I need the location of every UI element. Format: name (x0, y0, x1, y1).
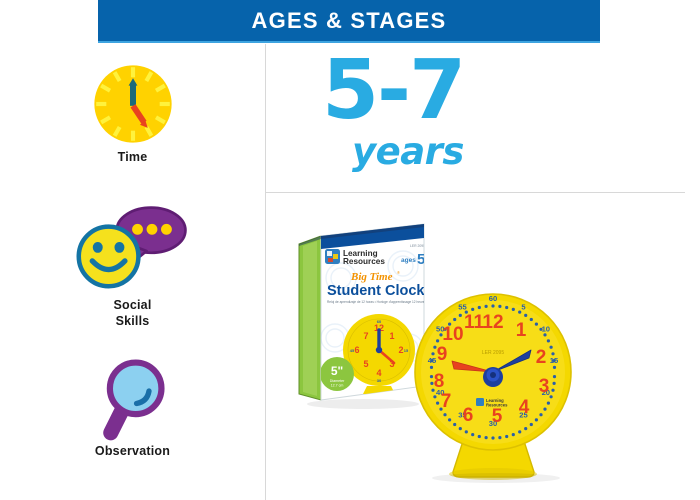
svg-text:ages: ages (401, 257, 416, 264)
svg-text:®: ® (397, 270, 400, 275)
product-image-panel: Learning Resources ages 5+ LER 2095 Big … (266, 193, 700, 500)
svg-text:10: 10 (442, 324, 463, 345)
svg-text:45: 45 (428, 356, 437, 365)
svg-text:2: 2 (398, 345, 403, 355)
svg-text:5": 5" (331, 364, 343, 378)
features-column: Time Social Skills (0, 44, 265, 500)
svg-text:4: 4 (376, 368, 381, 378)
student-clock-product: 60 5 10 15 20 25 30 35 40 45 50 55 12 1 … (406, 288, 581, 483)
feature-social-skills: Social Skills (0, 204, 265, 329)
svg-text:4: 4 (519, 397, 530, 418)
smiley-speech-bubble-icon (74, 204, 192, 298)
svg-text:9: 9 (437, 344, 448, 365)
svg-text:8: 8 (434, 371, 445, 392)
feature-observation: Observation (0, 354, 265, 460)
svg-text:3: 3 (539, 376, 550, 397)
svg-text:55: 55 (458, 302, 467, 311)
header-banner: AGES & STAGES (98, 0, 600, 41)
svg-text:12.7 cm: 12.7 cm (331, 384, 344, 388)
smiley-face-shape (78, 227, 138, 287)
clock-item-code: LER 2095 (482, 350, 504, 356)
feature-label-observation: Observation (0, 444, 265, 460)
svg-text:45: 45 (350, 348, 355, 353)
age-range-value: 5-7 (322, 50, 464, 132)
age-range-panel: 5-7 years (266, 44, 700, 192)
svg-text:Resources: Resources (486, 403, 508, 408)
svg-text:6: 6 (463, 405, 474, 426)
feature-time: Time (0, 58, 265, 166)
svg-text:2: 2 (536, 347, 547, 368)
svg-text:60: 60 (377, 319, 382, 324)
svg-text:7: 7 (363, 331, 368, 341)
magnifying-glass-icon (93, 354, 173, 444)
svg-text:Big Time: Big Time (350, 271, 393, 283)
svg-text:Resources: Resources (343, 257, 385, 266)
svg-text:1: 1 (516, 320, 527, 341)
feature-label-social-line1: Social (0, 298, 265, 314)
page-title: AGES & STAGES (252, 8, 447, 34)
svg-text:LER 2095: LER 2095 (410, 244, 425, 248)
svg-text:5: 5 (363, 359, 368, 369)
clock-icon (87, 58, 179, 150)
svg-text:11: 11 (464, 312, 485, 333)
svg-text:60: 60 (489, 294, 497, 303)
age-range-unit: years (352, 130, 464, 173)
svg-text:Diameter: Diameter (330, 379, 345, 383)
svg-text:10: 10 (542, 325, 550, 334)
svg-text:30: 30 (377, 378, 382, 383)
svg-text:12: 12 (482, 312, 503, 333)
svg-text:7: 7 (441, 391, 452, 412)
svg-text:5: 5 (492, 406, 503, 427)
svg-text:1: 1 (389, 331, 394, 341)
svg-text:15: 15 (550, 356, 559, 365)
svg-text:6: 6 (354, 345, 359, 355)
feature-label-social-line2: Skills (0, 314, 265, 330)
feature-label-time: Time (0, 150, 265, 166)
svg-text:5+: 5+ (417, 251, 434, 268)
